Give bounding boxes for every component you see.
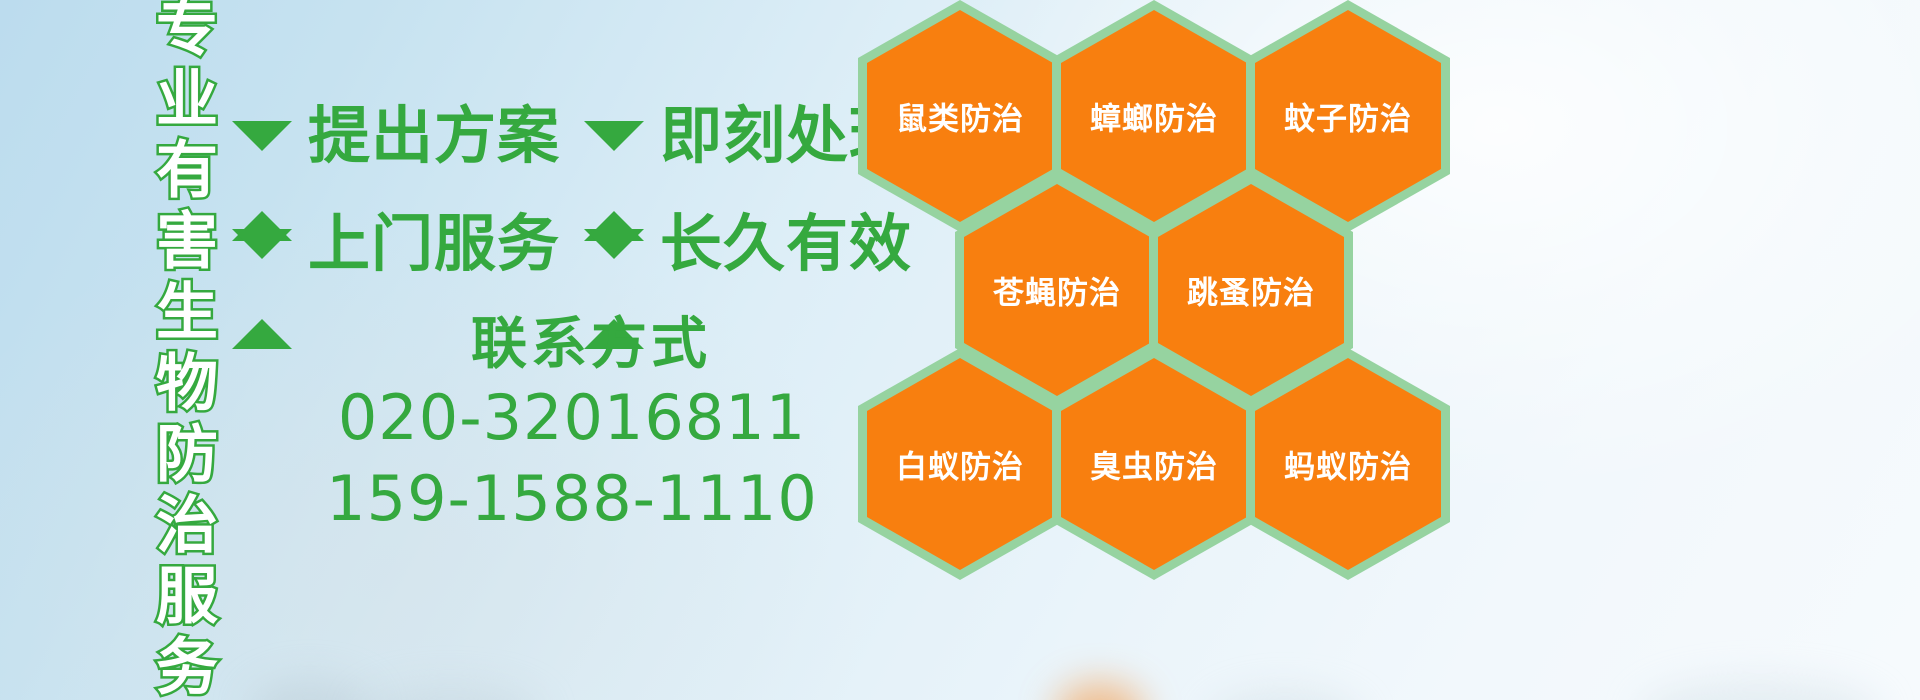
contact-block: 联系方式 020-32016811 159-1588-1110	[232, 312, 872, 539]
contact-heading: 联系方式	[310, 312, 872, 378]
diamond-bullet-icon	[232, 229, 292, 289]
hex-label: 蚂蚁防治	[1246, 442, 1450, 487]
background-blob	[1055, 682, 1145, 700]
background-blob	[1640, 680, 1880, 700]
hex-label: 白蚁防治	[858, 442, 1062, 487]
service-honeycomb: 鼠类防治 蟑螂防治 蚊子防治 苍蝇防治 跳蚤防治 白蚁防治	[856, 0, 1476, 554]
contact-phone-landline[interactable]: 020-32016811	[272, 378, 872, 459]
background-blob	[250, 680, 370, 700]
hex-label: 鼠类防治	[858, 94, 1062, 139]
feature-label: 上门服务	[308, 213, 560, 275]
background-blob	[360, 686, 540, 700]
hex-cell-ant-control[interactable]: 蚂蚁防治	[1246, 348, 1450, 580]
hex-cell-bedbug-control[interactable]: 臭虫防治	[1052, 348, 1256, 580]
feature-label: 提出方案	[308, 105, 560, 167]
hex-cell-termite-control[interactable]: 白蚁防治	[858, 348, 1062, 580]
hex-label: 蚊子防治	[1246, 94, 1450, 139]
feature-item-propose-plan: 提出方案	[232, 105, 560, 167]
diamond-bullet-icon	[584, 121, 644, 181]
feature-row: 提出方案 即刻处理	[232, 82, 872, 190]
diamond-bullet-icon	[584, 229, 644, 289]
contact-phone-mobile[interactable]: 159-1588-1110	[272, 459, 872, 540]
hex-label: 蟑螂防治	[1052, 94, 1256, 139]
background-blob	[1210, 692, 1360, 700]
diamond-bullet-icon	[232, 121, 292, 181]
feature-list: 提出方案 即刻处理 上门服务 长久有效	[232, 82, 872, 298]
promo-banner: 专业有害生物防治服务 提出方案 即刻处理 上门服务 长久有效 联系方式	[0, 0, 1920, 700]
hex-label: 臭虫防治	[1052, 442, 1256, 487]
feature-row: 上门服务 长久有效	[232, 190, 872, 298]
hex-label: 跳蚤防治	[1149, 268, 1353, 313]
vertical-title: 专业有害生物防治服务	[108, 18, 212, 682]
hex-label: 苍蝇防治	[955, 268, 1159, 313]
